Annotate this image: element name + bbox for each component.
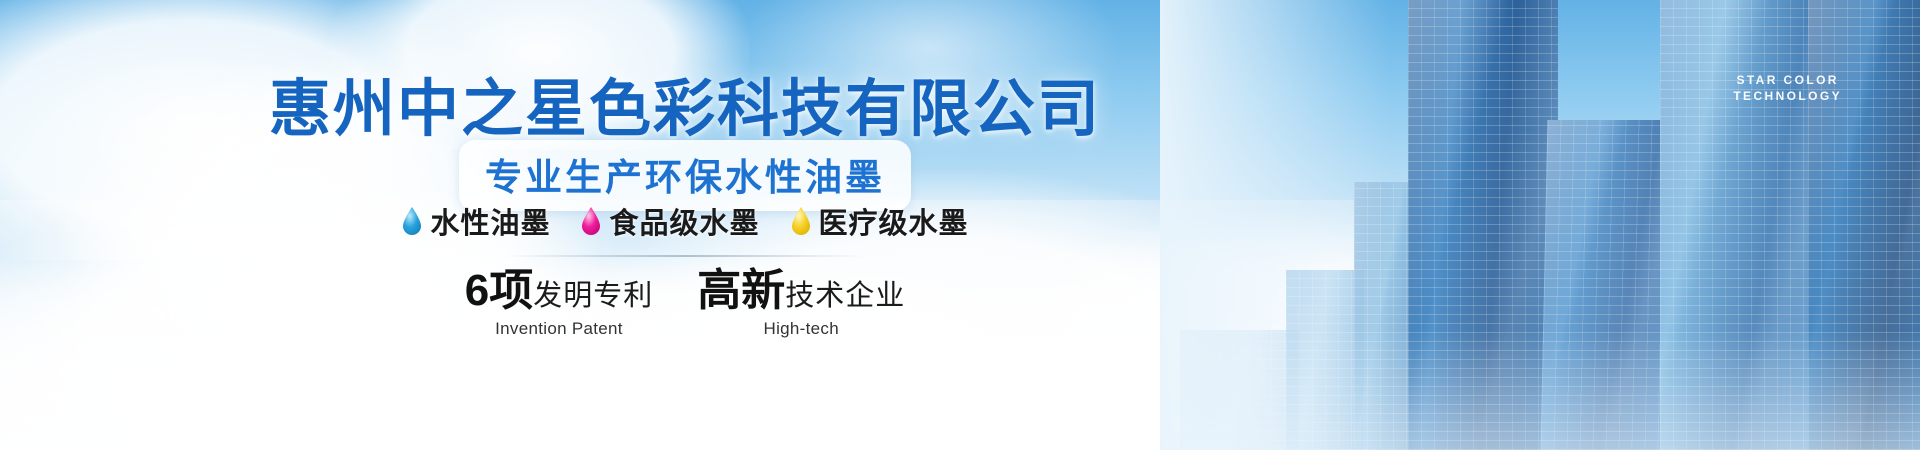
water-drop-icon [580,206,602,236]
feature-list: 水性油墨 食品级水墨 医疗级水墨 [0,200,1370,242]
credential-badges: 6项发明专利 Invention Patent 高新技术企业 High-tech [0,268,1370,339]
city-brand-line-2: TECHNOLOGY [1733,88,1842,104]
badge-subhead: 技术企业 [785,280,905,312]
badge-invention-patent: 6项发明专利 Invention Patent [465,268,654,339]
badge-headline: 高新 [697,266,785,315]
water-drop-icon [401,206,423,236]
water-drop-icon [790,206,812,236]
feature-item: 水性油墨 [401,200,550,242]
badge-headline: 6项 [465,266,533,315]
badge-english: Invention Patent [465,319,654,339]
feature-label: 水性油墨 [430,200,550,242]
badge-subhead: 发明专利 [533,280,653,312]
banner-content: 惠州中之星色彩科技有限公司 专业生产环保水性油墨 水性油墨 [0,0,1370,450]
feature-label: 食品级水墨 [609,200,759,242]
badge-english: High-tech [697,319,905,339]
feature-item: 食品级水墨 [580,200,759,242]
company-title: 惠州中之星色彩科技有限公司 [0,58,1370,148]
city-brand-line-1: STAR COLOR [1733,72,1842,88]
feature-label: 医疗级水墨 [819,200,969,242]
badge-high-tech: 高新技术企业 High-tech [697,268,905,339]
feature-item: 医疗级水墨 [790,200,969,242]
section-divider [505,255,865,257]
promo-banner: Star Color STAR COLOR TECHNOLOGY 惠州中之星色彩… [0,0,1920,450]
city-brand-mark: STAR COLOR TECHNOLOGY [1733,72,1842,104]
